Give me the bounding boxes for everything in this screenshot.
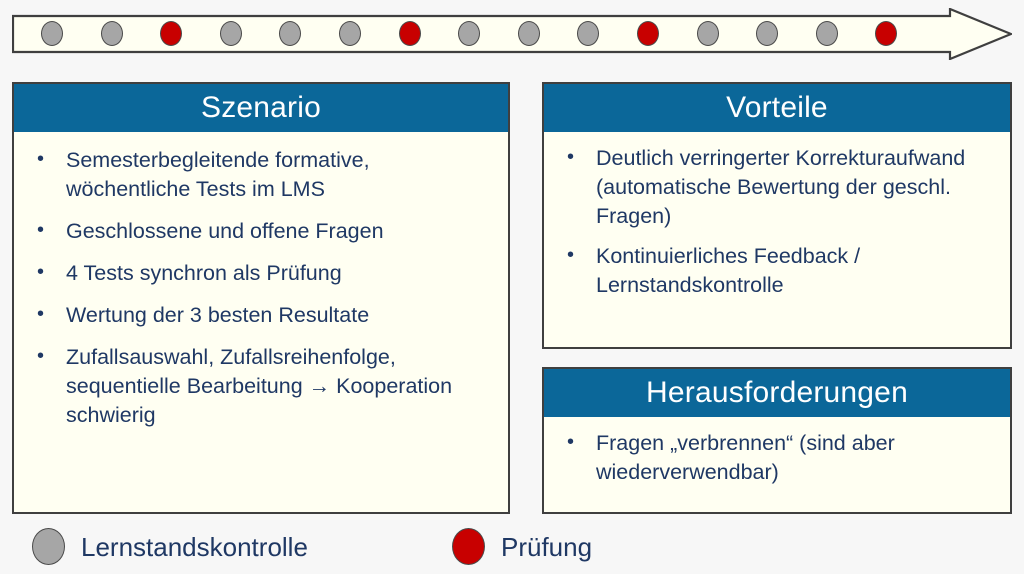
timeline-marker-lernstandskontrolle <box>220 21 242 46</box>
panel-vorteile: Vorteile Deutlich verringerter Korrektur… <box>542 82 1012 349</box>
semester-timeline <box>12 8 1012 60</box>
panel-herausforderungen: Herausforderungen Fragen „verbrennen“ (s… <box>542 367 1012 514</box>
timeline-marker-pruefung <box>399 21 421 46</box>
timeline-marker-lernstandskontrolle <box>697 21 719 46</box>
timeline-marker-lernstandskontrolle <box>41 21 63 46</box>
panel-szenario-title: Szenario <box>14 84 508 132</box>
timeline-marker-pruefung <box>637 21 659 46</box>
bullet-item: Geschlossene und offene Fragen <box>24 217 494 246</box>
timeline-marker-lernstandskontrolle <box>816 21 838 46</box>
panel-vorteile-body: Deutlich verringerter Korrekturaufwand (… <box>544 132 1010 310</box>
szenario-bullet-list: Semesterbegleitende formative, wöchentli… <box>24 146 494 430</box>
herausforderungen-bullet-list: Fragen „verbrennen“ (sind aber wiederver… <box>554 429 996 487</box>
panel-herausforderungen-title: Herausforderungen <box>544 369 1010 417</box>
panel-szenario-body: Semesterbegleitende formative, wöchentli… <box>14 132 508 453</box>
legend-item-pruefung: Prüfung <box>452 528 592 565</box>
legend-label-pruefung: Prüfung <box>501 532 592 562</box>
timeline-marker-lernstandskontrolle <box>339 21 361 46</box>
slide-canvas: Szenario Semesterbegleitende formative, … <box>0 0 1024 574</box>
bullet-item: Deutlich verringerter Korrekturaufwand (… <box>554 144 996 231</box>
timeline-marker-lernstandskontrolle <box>518 21 540 46</box>
timeline-marker-lernstandskontrolle <box>577 21 599 46</box>
timeline-marker-pruefung <box>875 21 897 46</box>
bullet-item: Kontinuierliches Feedback / Lernstandsko… <box>554 242 996 300</box>
timeline-marker-lernstandskontrolle <box>458 21 480 46</box>
bullet-item: Wertung der 3 besten Resultate <box>24 301 494 330</box>
timeline-marker-row <box>12 8 1012 60</box>
bullet-item: Semesterbegleitende formative, wöchentli… <box>24 146 494 204</box>
panel-szenario: Szenario Semesterbegleitende formative, … <box>12 82 510 514</box>
panel-vorteile-title: Vorteile <box>544 84 1010 132</box>
timeline-marker-lernstandskontrolle <box>756 21 778 46</box>
red-circle-icon <box>452 528 485 565</box>
legend-item-lernstandskontrolle: Lernstandskontrolle <box>32 528 308 565</box>
legend: Lernstandskontrolle Prüfung <box>12 523 1012 571</box>
vorteile-bullet-list: Deutlich verringerter Korrekturaufwand (… <box>554 144 996 300</box>
bullet-item: 4 Tests synchron als Prüfung <box>24 259 494 288</box>
legend-label-lernstandskontrolle: Lernstandskontrolle <box>81 532 308 562</box>
grey-circle-icon <box>32 528 65 565</box>
bullet-item: Zufallsauswahl, Zufallsreihenfolge, sequ… <box>24 343 494 430</box>
panel-herausforderungen-body: Fragen „verbrennen“ (sind aber wiederver… <box>544 417 1010 497</box>
bullet-item: Fragen „verbrennen“ (sind aber wiederver… <box>554 429 996 487</box>
timeline-marker-lernstandskontrolle <box>279 21 301 46</box>
timeline-marker-pruefung <box>160 21 182 46</box>
timeline-marker-lernstandskontrolle <box>101 21 123 46</box>
